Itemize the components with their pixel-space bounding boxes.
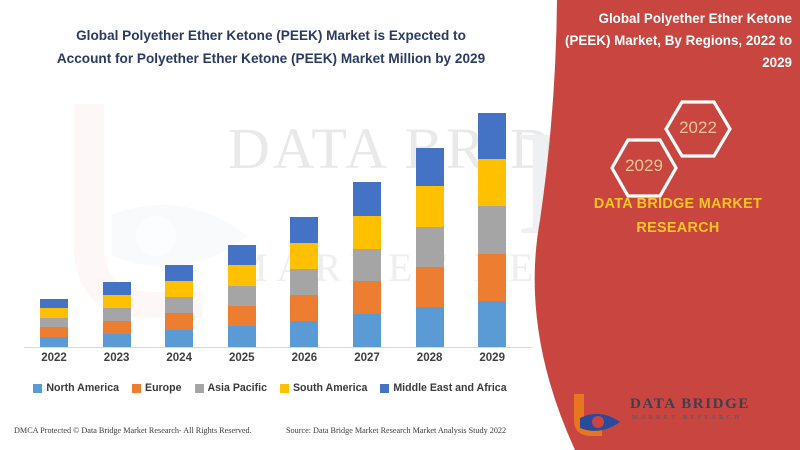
bar-segment[interactable] [103,295,131,308]
legend-label: South America [293,382,367,394]
infographic-canvas: DATA BRIDGE MARKET RESEARCH R Global Pol… [0,0,800,450]
logo-text-secondary: MARKET RESEARCH [632,414,742,421]
hexagon-label-2022: 2022 [658,118,738,138]
footer: DMCA Protected © Data Bridge Market Rese… [0,426,540,446]
x-axis-label-2024: 2024 [152,352,206,364]
bar-2023[interactable] [103,282,131,347]
bar-2022[interactable] [40,299,68,347]
bar-segment[interactable] [165,330,193,347]
bar-segment[interactable] [353,249,381,281]
bar-segment[interactable] [290,295,318,321]
bar-segment[interactable] [165,297,193,313]
legend-swatch-icon [380,384,389,393]
logo-text-primary: DATA BRIDGE [630,396,750,413]
x-axis-labels: 20222023202420252026202720282029 [0,352,540,370]
panel-title: Global Polyether Ether Ketone (PEEK) Mar… [564,8,792,74]
chart-title: Global Polyether Ether Ketone (PEEK) Mar… [48,24,494,70]
footer-source: Source: Data Bridge Market Research Mark… [286,426,506,435]
company-logo: DATA BRIDGE MARKET RESEARCH [568,392,778,436]
x-axis-label-2023: 2023 [90,352,144,364]
bar-segment[interactable] [478,113,506,159]
legend-label: Asia Pacific [208,382,267,394]
legend-swatch-icon [195,384,204,393]
x-axis-label-2028: 2028 [403,352,457,364]
bar-2026[interactable] [290,217,318,347]
bar-segment[interactable] [290,321,318,347]
bar-segment[interactable] [103,321,131,334]
hexagon-group: 2029 2022 [556,96,800,204]
x-axis-label-2025: 2025 [215,352,269,364]
bar-segment[interactable] [416,186,444,226]
legend-label: Europe [145,382,182,394]
bar-segment[interactable] [228,245,256,265]
x-axis-label-2026: 2026 [277,352,331,364]
bar-segment[interactable] [478,206,506,253]
bar-2024[interactable] [165,265,193,347]
bar-segment[interactable] [103,308,131,321]
brand-line-2: RESEARCH [636,220,719,236]
bar-segment[interactable] [228,306,256,326]
x-axis-label-2029: 2029 [465,352,519,364]
bar-segment[interactable] [353,216,381,249]
hexagon-label-2029: 2029 [604,156,684,176]
footer-copyright: DMCA Protected © Data Bridge Market Rese… [14,426,252,435]
x-axis-line [24,347,532,348]
legend-swatch-icon [132,384,141,393]
bar-2025[interactable] [228,245,256,347]
bar-segment[interactable] [478,301,506,347]
bar-segment[interactable] [228,286,256,306]
brand-line-1: DATA BRIDGE MARKET [594,196,762,212]
bar-segment[interactable] [290,269,318,295]
x-axis-label-2027: 2027 [340,352,394,364]
logo-mark-icon [568,392,624,436]
bar-segment[interactable] [416,227,444,267]
legend-swatch-icon [280,384,289,393]
bar-segment[interactable] [290,243,318,269]
legend-item-south-america[interactable]: South America [280,382,367,394]
bar-segment[interactable] [478,254,506,301]
legend-label: North America [46,382,119,394]
bar-segment[interactable] [165,265,193,281]
legend-item-north-america[interactable]: North America [33,382,119,394]
x-axis-label-2022: 2022 [27,352,81,364]
bar-segment[interactable] [40,337,68,347]
legend-item-asia-pacific[interactable]: Asia Pacific [195,382,267,394]
bar-segment[interactable] [416,148,444,186]
bar-segment[interactable] [353,281,381,314]
bar-segment[interactable] [103,282,131,295]
bar-segment[interactable] [165,281,193,297]
brand-name: DATA BRIDGE MARKET RESEARCH [560,192,796,240]
bar-2029[interactable] [478,113,506,347]
bar-segment[interactable] [228,265,256,286]
bar-2028[interactable] [416,148,444,347]
bar-segment[interactable] [353,182,381,215]
bar-segment[interactable] [40,299,68,308]
hexagon-shapes [556,96,800,204]
chart-legend: North AmericaEuropeAsia PacificSouth Ame… [0,382,540,394]
bar-segment[interactable] [416,307,444,347]
chart-plot-area [0,96,540,348]
bar-segment[interactable] [290,217,318,243]
panel-content: Global Polyether Ether Ketone (PEEK) Mar… [556,0,800,450]
bar-segment[interactable] [416,267,444,307]
bar-2027[interactable] [353,182,381,347]
bar-segment[interactable] [228,326,256,347]
bar-segment[interactable] [40,318,68,327]
legend-swatch-icon [33,384,42,393]
legend-label: Middle East and Africa [393,382,506,394]
bar-segment[interactable] [40,327,68,337]
bar-segment[interactable] [40,308,68,318]
bar-segment[interactable] [165,313,193,330]
bar-segment[interactable] [103,334,131,347]
bar-segment[interactable] [353,314,381,347]
bar-segment[interactable] [478,159,506,206]
bar-series-container [0,96,540,347]
legend-item-middle-east-and-africa[interactable]: Middle East and Africa [380,382,506,394]
legend-item-europe[interactable]: Europe [132,382,182,394]
